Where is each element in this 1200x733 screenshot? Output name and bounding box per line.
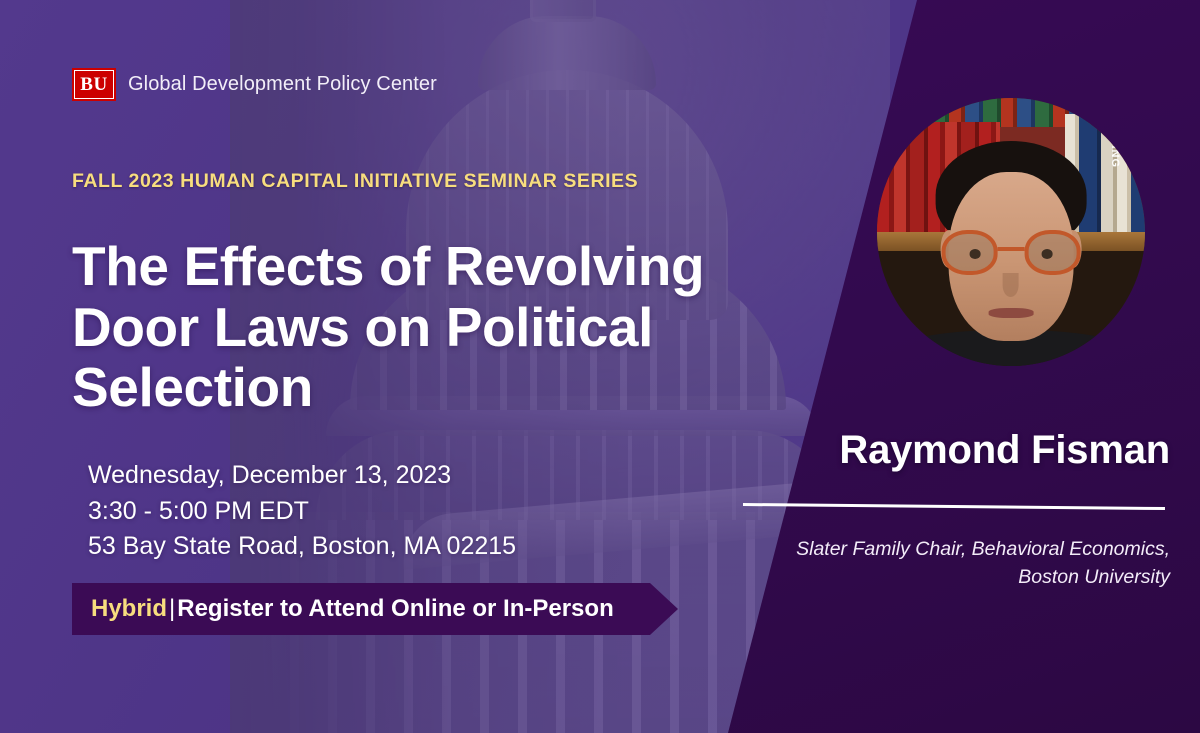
- lens-right: [1025, 230, 1080, 275]
- eyeglasses-icon: [942, 230, 1080, 275]
- registration-ribbon[interactable]: Hybrid|Register to Attend Online or In-P…: [72, 583, 678, 635]
- format-badge: Hybrid: [91, 595, 167, 622]
- series-eyebrow: FALL 2023 HUMAN CAPITAL INITIATIVE SEMIN…: [72, 170, 638, 193]
- bu-logo-lockup: BU Global Development Policy Center: [72, 68, 437, 101]
- speaker-avatar: FORGETTING: [877, 98, 1145, 366]
- mouth: [988, 308, 1033, 317]
- ribbon-separator: |: [167, 595, 177, 622]
- bu-shield-icon: BU: [72, 68, 116, 101]
- registration-ribbon-label: Hybrid|Register to Attend Online or In-P…: [72, 595, 614, 623]
- glasses-bridge: [997, 247, 1025, 251]
- speaker-role-line-2: Boston University: [735, 564, 1170, 592]
- speaker-name: Raymond Fisman: [740, 428, 1170, 473]
- organization-name: Global Development Policy Center: [128, 73, 437, 96]
- speaker-role: Slater Family Chair, Behavioral Economic…: [735, 536, 1170, 591]
- speaker-role-line-1: Slater Family Chair, Behavioral Economic…: [735, 536, 1170, 564]
- lens-left: [942, 230, 997, 275]
- speaker-face: [931, 141, 1092, 366]
- event-poster: BU Global Development Policy Center FALL…: [0, 0, 1200, 733]
- left-content: BU Global Development Policy Center FALL…: [72, 0, 732, 733]
- book-spine-label: FORGETTING: [1109, 98, 1121, 168]
- event-time: 3:30 - 5:00 PM EDT: [88, 494, 516, 530]
- event-location: 53 Bay State Road, Boston, MA 02215: [88, 529, 516, 565]
- event-title: The Effects of Revolving Door Laws on Po…: [72, 236, 712, 418]
- event-date: Wednesday, December 13, 2023: [88, 458, 516, 494]
- bu-mark-text: BU: [80, 74, 107, 96]
- event-details: Wednesday, December 13, 2023 3:30 - 5:00…: [88, 458, 516, 565]
- register-cta: Register to Attend Online or In-Person: [177, 595, 613, 622]
